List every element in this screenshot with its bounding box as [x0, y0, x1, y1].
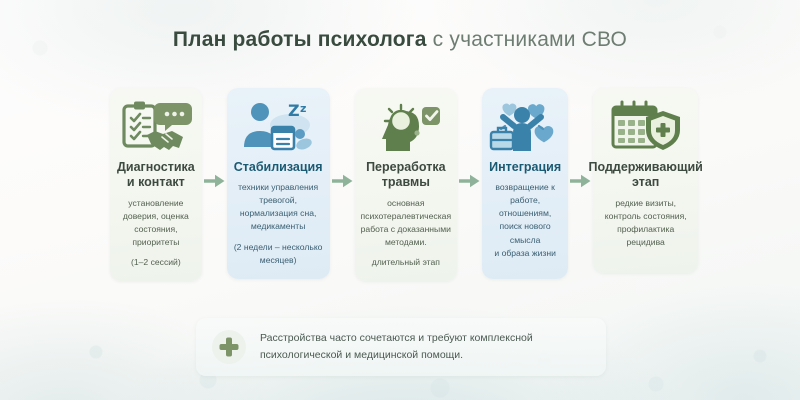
summary-banner: Расстройства часто сочетаются и требуют … — [196, 318, 606, 376]
person-celebrating-hearts-briefcase-icon — [487, 98, 563, 156]
summary-banner-text: Расстройства часто сочетаются и требуют … — [260, 330, 533, 365]
stage-card-description: основнаяпсихотералевтическаяработа с док… — [360, 197, 453, 249]
stage-card-note: (2 недели – несколькомесяцев) — [234, 241, 323, 267]
stage-card-title: Диагностикаи контакт — [115, 160, 197, 191]
arrow-right-icon — [202, 88, 227, 273]
page-title-strong: План работы психолога — [173, 28, 427, 51]
person-sleep-medication-icon: Z z — [240, 98, 316, 156]
stage-card-description: редкие визиты,контроль состояния,профила… — [604, 197, 688, 249]
stage-card-description: установлениедоверия, оценкасостояния, пр… — [115, 197, 197, 249]
calendar-shield-cross-icon — [608, 98, 684, 156]
stage-card-title: Стабилизация — [232, 160, 325, 175]
head-lightbulb-checkmark-icon — [368, 98, 444, 156]
stage-card-row: Диагностикаи контакт установлениедоверия… — [110, 88, 695, 293]
summary-banner-line2: психологической и медицинской помощи. — [260, 347, 533, 364]
svg-text:Z: Z — [288, 101, 300, 120]
stage-card-podderzhivayushchiy-etap[interactable]: Поддерживающийэтап редкие визиты,контрол… — [593, 88, 698, 273]
infographic-canvas: План работы психолога с участниками СВО — [0, 0, 800, 400]
stage-card-pererabotka-travmy[interactable]: Переработкатравмы основнаяпсихотералевти… — [355, 88, 458, 281]
clipboard-checklist-handshake-icon — [118, 98, 194, 156]
stage-card-note: длительный этап — [372, 256, 440, 269]
stage-card-description: возвращение к работе,отношениям,поиск но… — [487, 181, 563, 259]
stage-card-note: (1–2 сессий) — [131, 256, 181, 269]
stage-card-title: Поддерживающийэтап — [587, 160, 705, 191]
summary-banner-line1: Расстройства часто сочетаются и требуют … — [260, 330, 533, 347]
stage-card-title: Интеграция — [487, 160, 563, 175]
arrow-right-icon — [457, 88, 482, 273]
stage-card-diagnostika[interactable]: Диагностикаи контакт установлениедоверия… — [110, 88, 202, 281]
stage-card-title: Переработкатравмы — [364, 160, 448, 191]
svg-text:z: z — [300, 102, 306, 115]
stage-card-description: техники управлениятревогой,нормализация … — [237, 181, 319, 233]
page-title-light: с участниками СВО — [427, 28, 627, 51]
page-title: План работы психолога с участниками СВО — [0, 28, 800, 52]
stage-card-stabilizaciya[interactable]: Z z Стабилизация техники управлениятрево… — [227, 88, 330, 279]
stage-card-integraciya[interactable]: Интеграция возвращение к работе,отношени… — [482, 88, 568, 279]
medical-cross-icon — [212, 330, 246, 364]
arrow-right-icon — [330, 88, 355, 273]
